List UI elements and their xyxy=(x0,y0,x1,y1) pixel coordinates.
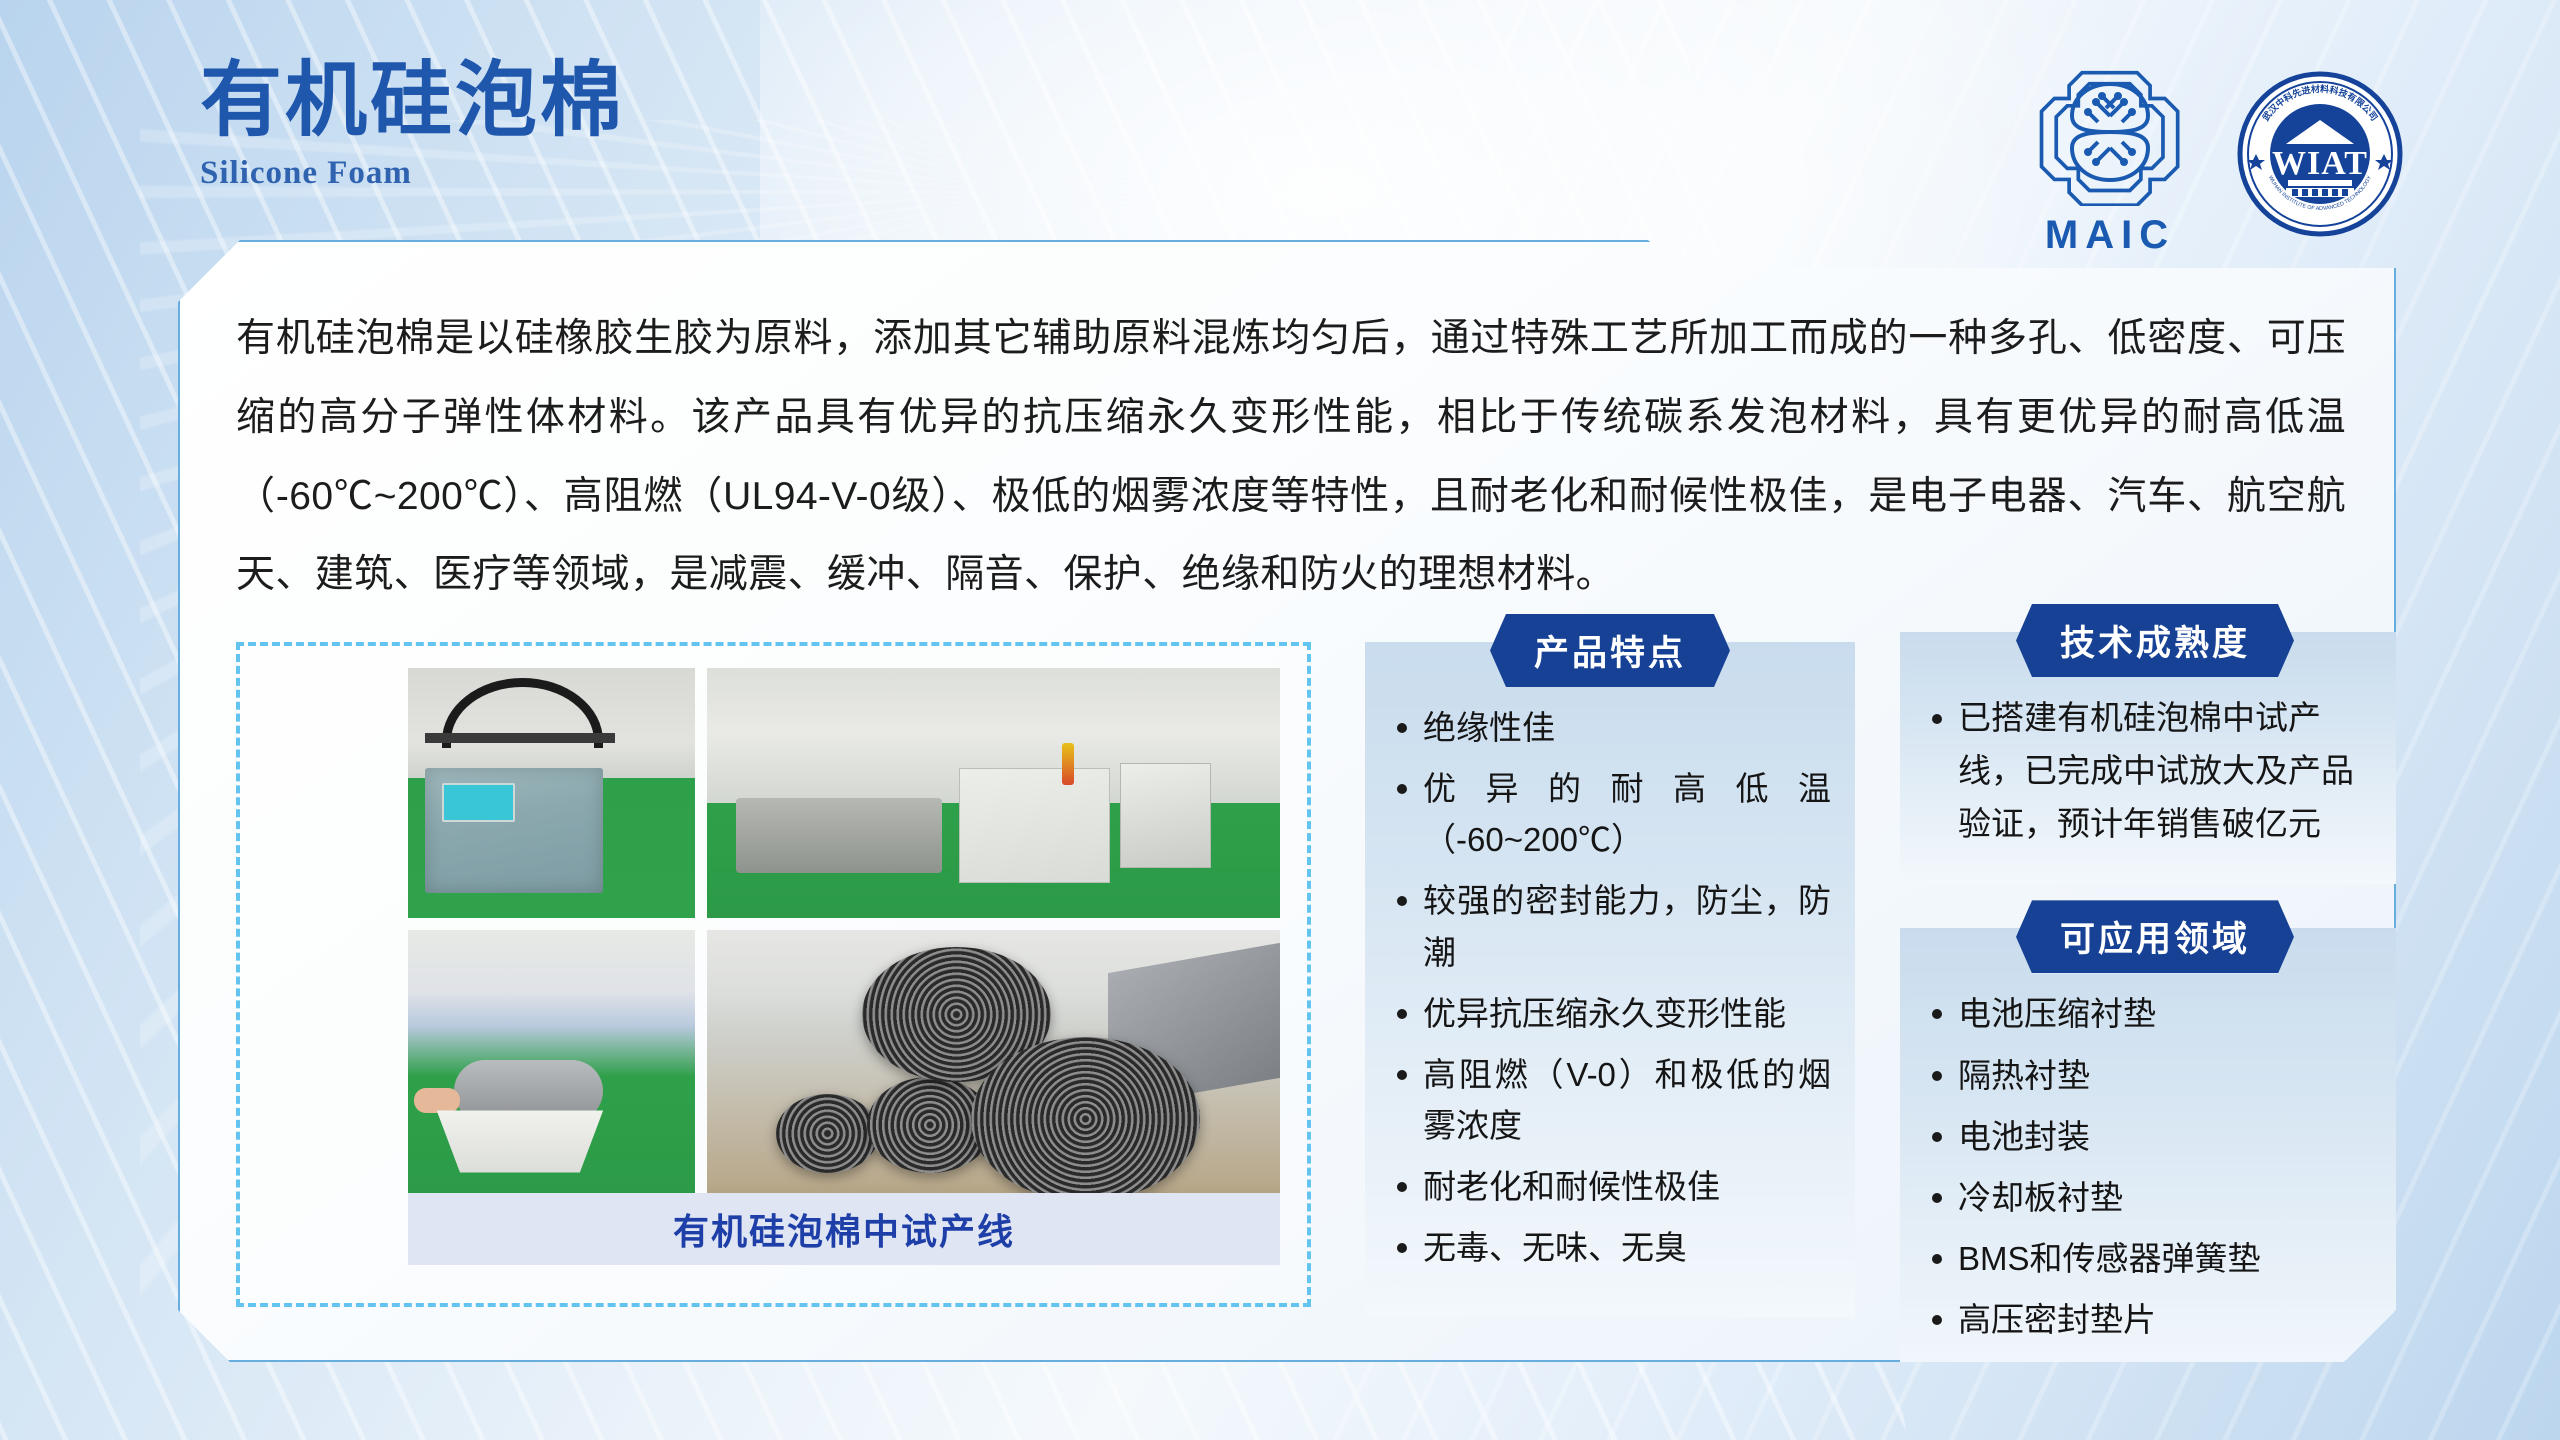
maturity-badge: 技术成熟度 xyxy=(2016,604,2294,677)
list-item: 高压密封垫片 xyxy=(1924,1294,2386,1345)
gallery-panel: 有机硅泡棉中试产线 xyxy=(236,642,1311,1307)
signal-lamp-shape xyxy=(1062,743,1074,785)
page-subtitle: Silicone Foam xyxy=(200,155,625,192)
foam-roll xyxy=(776,1094,879,1173)
features-badge: 产品特点 xyxy=(1490,614,1730,687)
maturity-text: 已搭建有机硅泡棉中试产线，已完成中试放大及产品验证，预计年销售破亿元 xyxy=(1924,692,2386,850)
list-item: 优异抗压缩永久变形性能 xyxy=(1389,988,1831,1039)
applications-list: 电池压缩衬垫 隔热衬垫 电池封装 冷却板衬垫 BMS和传感器弹簧垫 高压密封垫片 xyxy=(1924,988,2386,1345)
svg-text:WIAT: WIAT xyxy=(2272,145,2368,182)
content-card: 有机硅泡棉是以硅橡胶生胶为原料，添加其它辅助原料混炼均匀后，通过特殊工艺所加工而… xyxy=(178,240,2396,1362)
features-list: 绝缘性佳 优异的耐高低温（-60~200℃） 较强的密封能力，防尘，防潮 优异抗… xyxy=(1389,702,1831,1273)
list-item: 较强的密封能力，防尘，防潮 xyxy=(1389,875,1831,977)
wiat-seal-icon: WIAT 武汉中科先进材料科技有限公司 WUHAN INSTITUTE OF A… xyxy=(2236,225,2404,242)
logo-group: MAIC xyxy=(2036,58,2404,255)
maturity-panel: 技术成熟度 已搭建有机硅泡棉中试产线，已完成中试放大及产品验证，预计年销售破亿元 xyxy=(1900,632,2410,884)
wiat-logo: WIAT 武汉中科先进材料科技有限公司 WUHAN INSTITUTE OF A… xyxy=(2236,70,2404,243)
gallery-caption: 有机硅泡棉中试产线 xyxy=(408,1193,1280,1265)
list-item: 绝缘性佳 xyxy=(1389,702,1831,753)
maic-emblem-icon xyxy=(2036,58,2184,211)
photo-slitting-machine xyxy=(408,930,695,1212)
features-panel: 产品特点 绝缘性佳 优异的耐高低温（-60~200℃） 较强的密封能力，防尘，防… xyxy=(1365,642,1855,1317)
foam-roll xyxy=(971,1037,1200,1201)
intro-paragraph: 有机硅泡棉是以硅橡胶生胶为原料，添加其它辅助原料混炼均匀后，通过特殊工艺所加工而… xyxy=(236,300,2346,615)
list-item: 优异的耐高低温（-60~200℃） xyxy=(1389,763,1831,865)
slide-root: 有机硅泡棉 Silicone Foam xyxy=(0,0,2560,1440)
list-item: 电池封装 xyxy=(1924,1111,2386,1162)
applications-badge: 可应用领域 xyxy=(2016,900,2294,973)
list-item: 高阻燃（V-0）和极低的烟雾浓度 xyxy=(1389,1049,1831,1151)
list-item: 耐老化和耐候性极佳 xyxy=(1389,1161,1831,1212)
cabinet-shape xyxy=(1120,763,1212,868)
photo-foam-rolls xyxy=(707,930,1280,1212)
photo-dispensing-machine xyxy=(408,668,695,918)
maic-logo: MAIC xyxy=(2036,58,2184,255)
list-item: BMS和传感器弹簧垫 xyxy=(1924,1233,2386,1284)
list-item: 冷却板衬垫 xyxy=(1924,1172,2386,1223)
applications-panel: 可应用领域 电池压缩衬垫 隔热衬垫 电池封装 冷却板衬垫 BMS和传感器弹簧垫 … xyxy=(1900,928,2410,1389)
operator-arm-shape xyxy=(414,1088,460,1113)
maic-wordmark: MAIC xyxy=(2045,215,2175,255)
title-block: 有机硅泡棉 Silicone Foam xyxy=(200,58,625,192)
list-item: 电池压缩衬垫 xyxy=(1924,988,2386,1039)
slide-header: 有机硅泡棉 Silicone Foam xyxy=(0,0,2560,250)
photo-coating-line xyxy=(707,668,1280,918)
page-title: 有机硅泡棉 xyxy=(200,58,625,145)
photo-grid xyxy=(408,668,1280,1212)
right-column: 技术成熟度 已搭建有机硅泡棉中试产线，已完成中试放大及产品验证，预计年销售破亿元… xyxy=(1900,632,2410,1389)
features-column: 产品特点 绝缘性佳 优异的耐高低温（-60~200℃） 较强的密封能力，防尘，防… xyxy=(1365,642,1855,1317)
list-item: 无毒、无味、无臭 xyxy=(1389,1222,1831,1273)
rail-shape xyxy=(425,733,614,743)
list-item: 隔热衬垫 xyxy=(1924,1050,2386,1101)
